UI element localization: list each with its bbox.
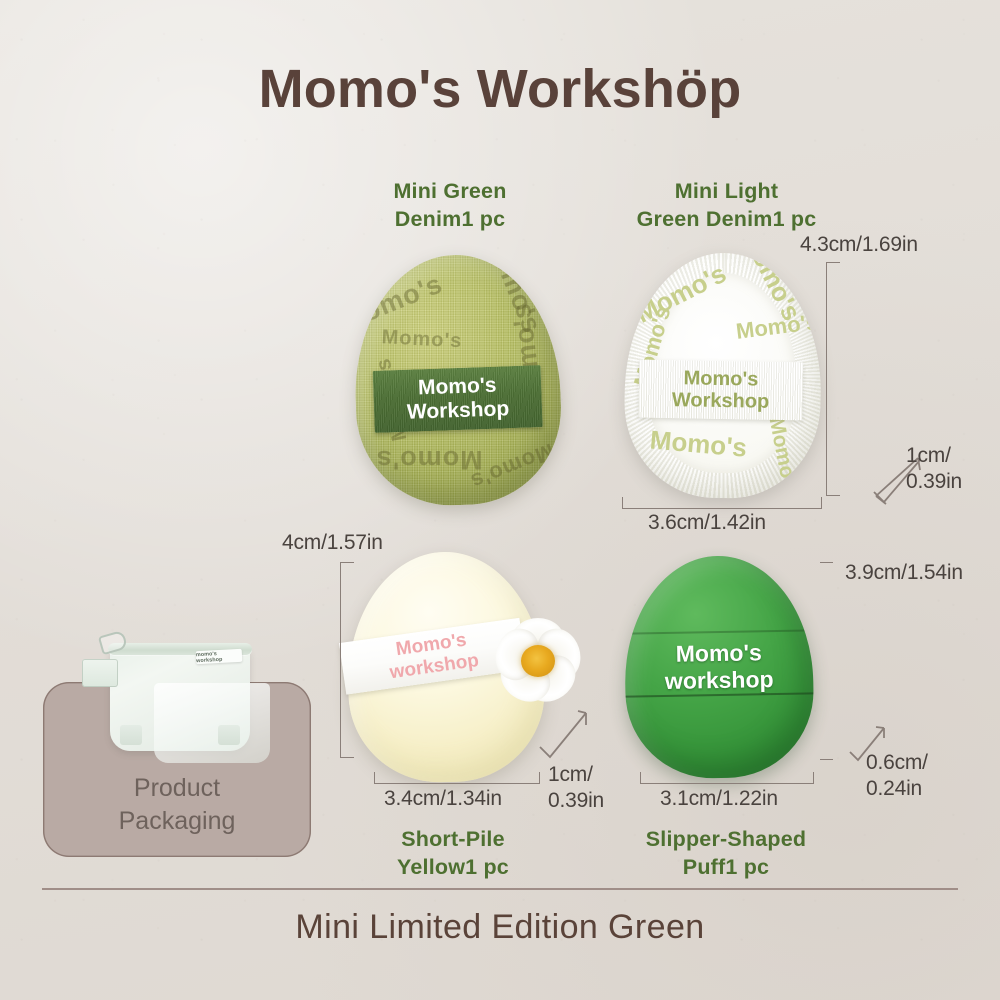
bracket-yellow-thickness [538, 705, 590, 761]
pouch-body [110, 647, 250, 751]
dimension-light-denim-thickness: 1cm/ 0.39in [906, 443, 962, 494]
product-image-slipper-shaped-puff: Momo's workshop [623, 554, 815, 779]
pouch-foot-left [120, 725, 142, 745]
bracket-yellow-width [374, 772, 540, 784]
print-word: Momo's [631, 258, 732, 330]
page-title: Momo's Workshöp [0, 58, 1000, 120]
dimension-light-denim-width: 3.6cm/1.42in [648, 510, 766, 536]
pouch-strap [82, 659, 118, 687]
band-text-line2: Workshop [407, 397, 510, 424]
dimension-yellow-thickness: 1cm/ 0.39in [548, 762, 604, 813]
product-image-mini-light-green-denim: Momo's Momo's Momo's Momo's Momo's Momo'… [623, 251, 823, 499]
dimension-yellow-width: 3.4cm/1.34in [384, 786, 502, 812]
bracket-green-denim-height [340, 562, 354, 758]
footer-divider [42, 888, 958, 890]
ribbon-band-light-denim: Momo's Workshop [638, 360, 803, 421]
print-word: Momo's [735, 309, 820, 345]
footer-caption: Mini Limited Edition Green [0, 908, 1000, 947]
print-word: Momo's [649, 424, 749, 463]
band-text-line1: Momo's [418, 374, 497, 400]
packaging-caption: Product Packaging [43, 772, 311, 838]
print-word: Momo's [381, 326, 463, 353]
pouch-inner-panel [154, 683, 270, 763]
bracket-slipper-width [640, 772, 814, 784]
bracket-light-denim-height [826, 262, 840, 496]
ribbon-band-green-denim: Momo's Workshop [373, 365, 543, 433]
dimension-green-denim-height: 4cm/1.57in [282, 530, 383, 556]
product-label-short-pile-yellow: Short-Pile Yellow1 pc [368, 826, 538, 881]
flower-decoration-icon [484, 610, 592, 712]
flower-center [521, 645, 555, 677]
band-text-line1: Momo's [683, 367, 758, 391]
product-image-mini-green-denim: Momo's Momo's Momo's Momo's Momo's Momo'… [351, 251, 565, 508]
product-label-mini-green-denim: Mini Green Denim1 pc [370, 178, 530, 233]
pouch-foot-right [218, 725, 240, 745]
pouch-brand-tag: momo's workshop [196, 649, 243, 664]
bracket-slipper-height [820, 562, 833, 760]
dimension-slipper-height: 3.9cm/1.54in [845, 560, 963, 586]
dimension-light-denim-height: 4.3cm/1.69in [800, 232, 918, 258]
infographic-canvas: Momo's Workshöp Mini Green Denim1 pc Min… [0, 0, 1000, 1000]
bracket-light-denim-width [622, 497, 822, 509]
product-label-mini-light-green-denim: Mini Light Green Denim1 pc [614, 178, 839, 233]
product-label-slipper-shaped-puff: Slipper-Shaped Puff1 pc [616, 826, 836, 881]
dimension-slipper-thickness: 0.6cm/ 0.24in [866, 750, 928, 801]
seam-line-top [624, 630, 812, 635]
pouch-tag-text: momo's workshop [196, 649, 243, 663]
puff-face-text: Momo's workshop [625, 639, 814, 695]
print-word: Momo's [764, 415, 803, 497]
dimension-slipper-width: 3.1cm/1.22in [660, 786, 778, 812]
band-text-line2: Workshop [672, 389, 770, 413]
product-image-packaging-pouch: momo's workshop [78, 625, 278, 755]
